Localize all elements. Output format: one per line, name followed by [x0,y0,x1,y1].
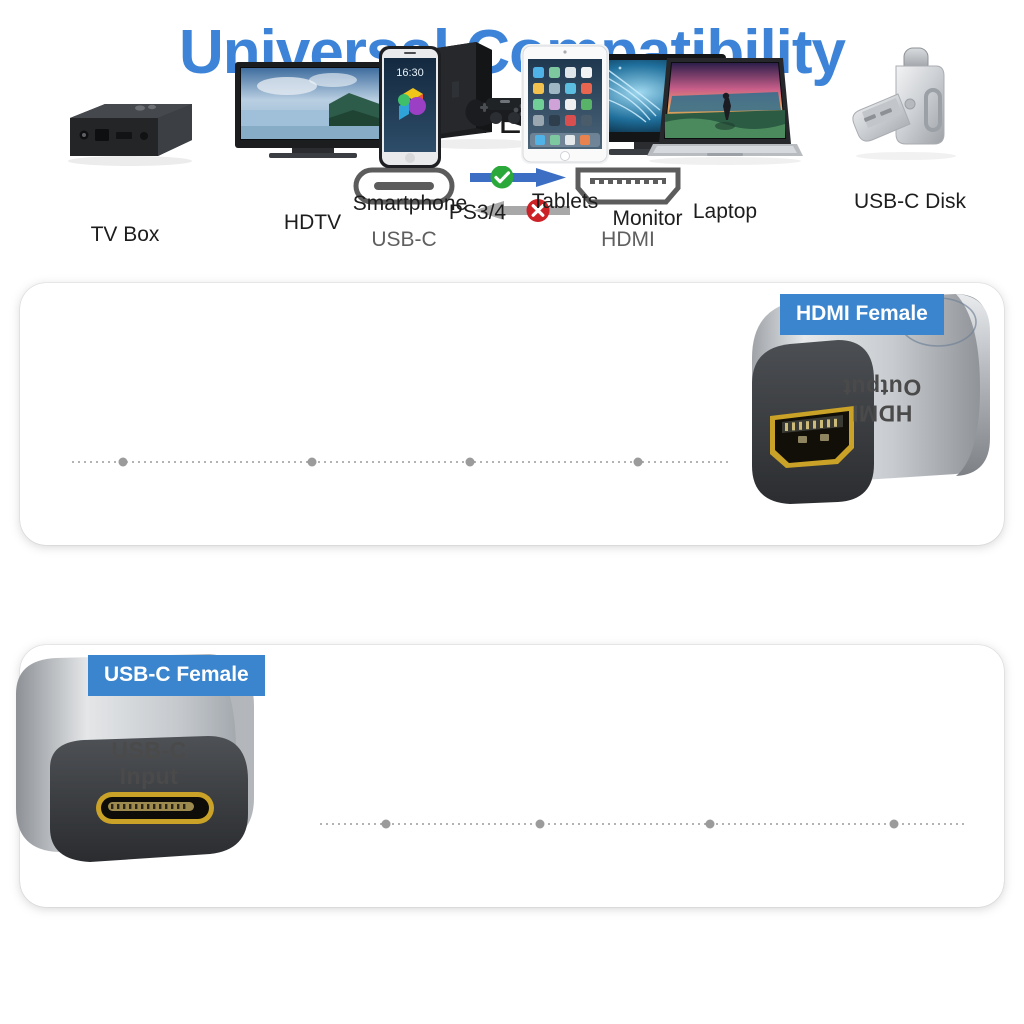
connection-node [536,820,545,829]
adapter-body-line1: USB-C [74,738,224,764]
adapter-body-text: HDMI Output [802,374,962,426]
laptop-icon [635,48,815,170]
connection-node [382,820,391,829]
tv-box-icon [40,78,210,174]
badge-hdmi-female: HDMI Female [780,294,944,335]
usb-flash-drive-icon [820,38,1000,170]
adapter-body-text: USB-C Input [74,738,224,790]
connection-node [706,820,715,829]
adapter-body-line2: Output [802,374,962,400]
infographic-page: Universal Compatibility USB-C to HDMI Ex… [0,0,1024,1024]
tablet-icon [485,38,645,168]
device-laptop: Laptop [635,48,815,170]
badge-usb-c-female: USB-C Female [88,655,265,696]
connection-node [119,458,128,467]
device-tablet: Tablets [485,38,645,168]
connection-line-bottom [318,823,968,825]
device-smartphone: 16:30 Smartphone [330,40,490,170]
device-label: Smartphone [353,192,467,216]
adapter-body-line2: Input [74,764,224,790]
device-tv-box: TV Box [40,78,210,174]
device-label: Laptop [693,200,757,224]
device-label: Tablets [532,190,599,214]
connection-node [890,820,899,829]
device-label: TV Box [91,223,160,247]
adapter-body-line1: HDMI [802,400,962,426]
device-usb-flash-drive: USB-C Disk [820,38,1000,170]
device-label: USB-C Disk [854,190,966,214]
smartphone-icon: 16:30 [330,40,490,170]
svg-text:16:30: 16:30 [396,67,424,79]
